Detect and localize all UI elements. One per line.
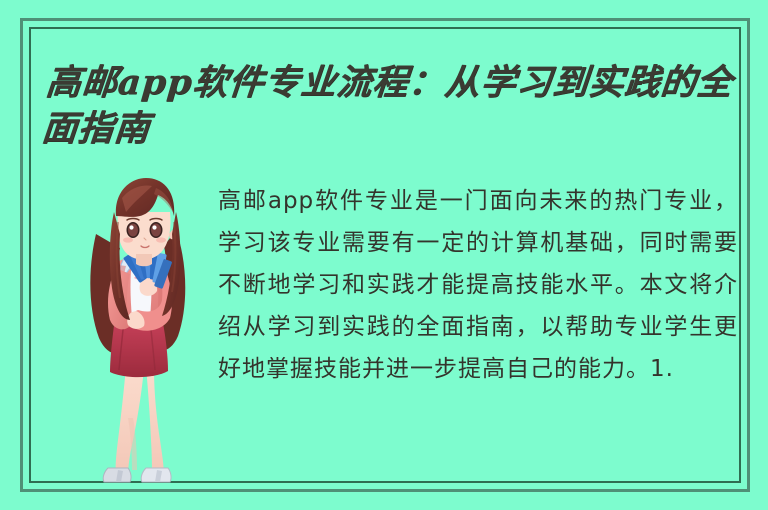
- anime-girl-illustration: [58, 168, 233, 488]
- page-title: 高邮app软件专业流程：从学习到实践的全面指南: [40, 60, 738, 152]
- title-block: 高邮app软件专业流程：从学习到实践的全面指南: [48, 60, 738, 152]
- body-block: 高邮app软件专业是一门面向未来的热门专业，学习该专业需要有一定的计算机基础，同…: [218, 180, 738, 475]
- shoes: [103, 468, 171, 482]
- poster-canvas: 高邮app软件专业流程：从学习到实践的全面指南: [0, 0, 768, 510]
- legs: [116, 366, 164, 476]
- article-body: 高邮app软件专业是一门面向未来的热门专业，学习该专业需要有一定的计算机基础，同…: [218, 180, 738, 390]
